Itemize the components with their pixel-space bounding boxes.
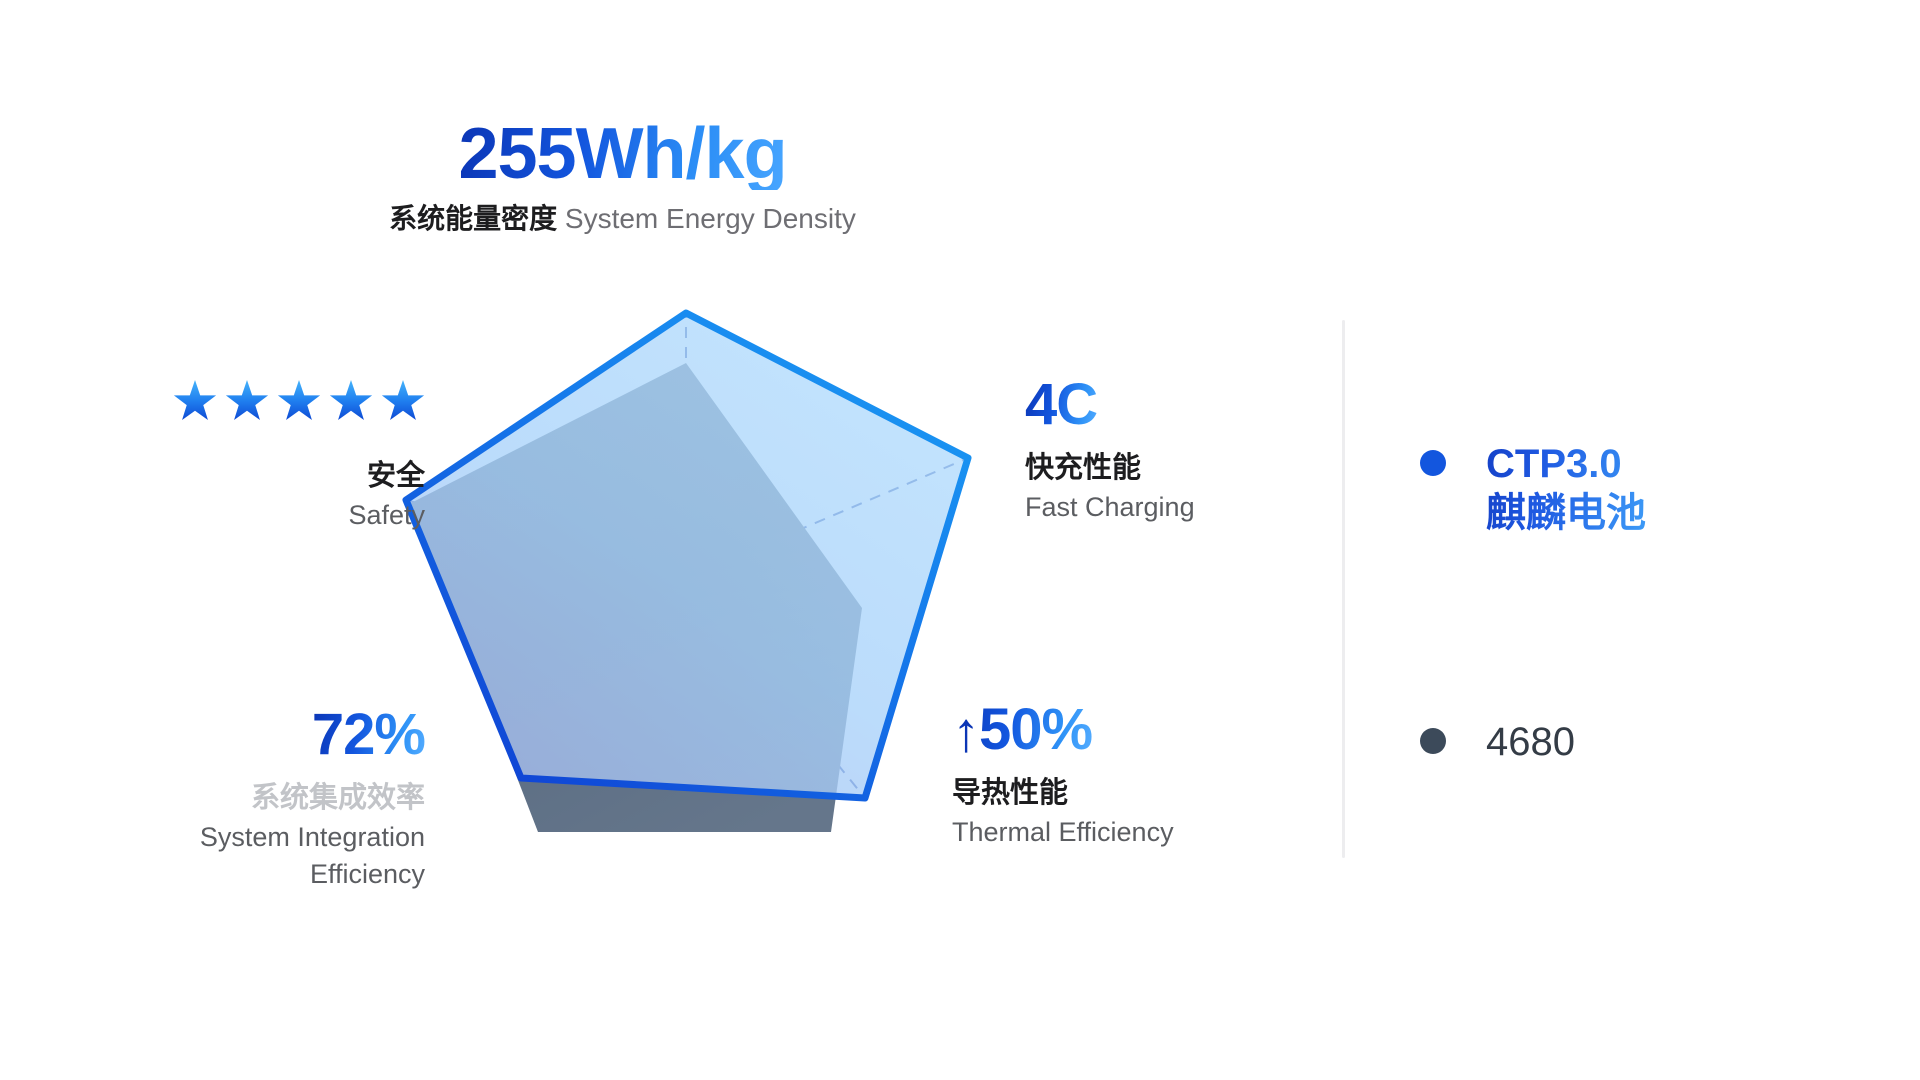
integration-value: 72%: [312, 705, 425, 766]
energy-density-label-en-spacer: [557, 203, 565, 234]
arrow-up-icon: ↑: [952, 703, 979, 762]
energy-density-value: 255Wh/kg: [458, 118, 786, 190]
star-icon: [173, 380, 217, 424]
headline-block: 255Wh/kg 系统能量密度 System Energy Density: [0, 118, 1245, 236]
legend-dot-icon: [1420, 728, 1446, 754]
vertical-divider: [1342, 320, 1345, 858]
star-icon: [225, 380, 269, 424]
star-icon: [329, 380, 373, 424]
energy-density-label-cn: 系统能量密度: [389, 203, 557, 234]
infographic-root: 255Wh/kg 系统能量密度 System Energy Density: [0, 0, 1920, 1080]
legend-label-4680: 4680: [1486, 718, 1575, 767]
legend-item-4680[interactable]: 4680: [1420, 718, 1840, 767]
metric-safety: 安全 Safety: [60, 380, 425, 533]
safety-label-en: Safety: [60, 498, 425, 533]
thermal-label-en: Thermal Efficiency: [952, 815, 1352, 850]
metric-thermal-efficiency: ↑50% 导热性能 Thermal Efficiency: [952, 700, 1352, 850]
radar-series-ctp30: [406, 313, 968, 798]
thermal-label-cn: 导热性能: [952, 775, 1352, 813]
legend-label-ctp30: CTP3.0 麒麟电池: [1486, 440, 1646, 538]
star-icon: [277, 380, 321, 424]
safety-label-cn: 安全: [60, 458, 425, 496]
integration-label-en-line1: System Integration: [45, 820, 425, 855]
chart-legend: CTP3.0 麒麟电池 4680: [1420, 440, 1840, 766]
fast-charging-label-en: Fast Charging: [1025, 490, 1355, 525]
energy-density-label: 系统能量密度 System Energy Density: [0, 202, 1245, 236]
energy-density-label-en: System Energy Density: [565, 203, 856, 234]
thermal-value: 50%: [979, 697, 1092, 762]
fast-charging-label-cn: 快充性能: [1025, 450, 1355, 488]
star-icon: [381, 380, 425, 424]
fast-charging-value: 4C: [1025, 375, 1097, 436]
legend-dot-icon: [1420, 450, 1446, 476]
integration-label-cn: 系统集成效率: [45, 780, 425, 818]
safety-rating-stars: [60, 380, 425, 424]
legend-item-ctp30[interactable]: CTP3.0 麒麟电池: [1420, 440, 1840, 538]
legend-ctp30-line2: 麒麟电池: [1486, 491, 1646, 535]
metric-system-integration: 72% 系统集成效率 System Integration Efficiency: [45, 705, 425, 892]
legend-ctp30-line1: CTP3.0: [1486, 442, 1622, 486]
metric-fast-charging: 4C 快充性能 Fast Charging: [1025, 375, 1355, 525]
thermal-value-wrap: ↑50%: [952, 700, 1092, 761]
integration-label-en-line2: Efficiency: [45, 857, 425, 892]
